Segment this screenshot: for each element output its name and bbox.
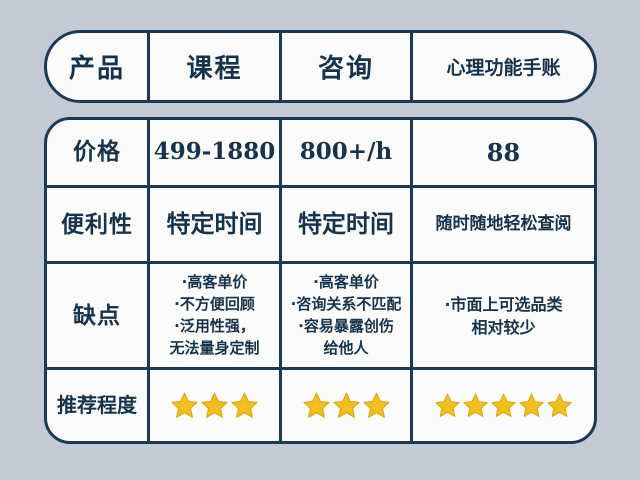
star-rating-course bbox=[170, 391, 259, 420]
convenience-consulting: 特定时间 bbox=[282, 188, 413, 262]
table-row-convenience: 便利性 特定时间 特定时间 随时随地轻松查阅 bbox=[47, 188, 594, 265]
cons-course-line-2: ·不方便回顾 bbox=[169, 294, 259, 316]
header-cell-course: 课程 bbox=[150, 33, 282, 100]
cons-consulting: ·高客单价 ·咨询关系不匹配 ·容易暴露创伤 给他人 bbox=[282, 264, 413, 367]
star-icon bbox=[230, 391, 259, 420]
cons-journal: ·市面上可选品类 相对较少 bbox=[413, 264, 594, 367]
price-journal: 88 bbox=[413, 120, 594, 185]
header-cell-journal: 心理功能手账 bbox=[413, 33, 594, 100]
row-label-rating: 推荐程度 bbox=[47, 370, 150, 441]
price-consulting: 800+/h bbox=[282, 120, 413, 185]
table-body: 价格 499-1880 800+/h 88 便利性 特定时间 特定时间 随时随地… bbox=[44, 117, 597, 444]
star-icon bbox=[462, 392, 489, 419]
row-label-cons: 缺点 bbox=[47, 264, 150, 367]
price-course: 499-1880 bbox=[150, 120, 282, 185]
table-row-rating: 推荐程度 bbox=[47, 370, 594, 441]
star-icon bbox=[362, 391, 391, 420]
cons-consulting-line-3: ·容易暴露创伤 bbox=[291, 316, 402, 338]
convenience-course: 特定时间 bbox=[150, 188, 282, 262]
rating-course bbox=[150, 370, 282, 441]
cons-course-line-1: ·高客单价 bbox=[169, 272, 259, 294]
star-icon bbox=[332, 391, 361, 420]
star-icon bbox=[546, 392, 573, 419]
star-icon bbox=[434, 392, 461, 419]
convenience-journal: 随时随地轻松查阅 bbox=[413, 188, 594, 262]
cons-course: ·高客单价 ·不方便回顾 ·泛用性强， 无法量身定制 bbox=[150, 264, 282, 367]
star-icon bbox=[518, 392, 545, 419]
cons-course-line-4: 无法量身定制 bbox=[169, 338, 259, 360]
star-icon bbox=[200, 391, 229, 420]
star-rating-consulting bbox=[302, 391, 391, 420]
cons-consulting-line-1: ·高客单价 bbox=[291, 272, 402, 294]
star-icon bbox=[490, 392, 517, 419]
cons-consulting-line-4: 给他人 bbox=[291, 338, 402, 360]
header-cell-product: 产品 bbox=[47, 33, 150, 100]
star-icon bbox=[302, 391, 331, 420]
cons-journal-line-1: ·市面上可选品类 bbox=[444, 293, 562, 316]
cons-consulting-line-2: ·咨询关系不匹配 bbox=[291, 294, 402, 316]
comparison-table: 产品 课程 咨询 心理功能手账 价格 499-1880 800+/h 88 便利… bbox=[44, 30, 597, 444]
row-label-convenience: 便利性 bbox=[47, 188, 150, 262]
row-label-price: 价格 bbox=[47, 120, 150, 185]
table-header-row: 产品 课程 咨询 心理功能手账 bbox=[44, 30, 597, 103]
rating-journal bbox=[413, 370, 594, 441]
star-icon bbox=[170, 391, 199, 420]
cons-course-line-3: ·泛用性强， bbox=[169, 316, 259, 338]
header-cell-consulting: 咨询 bbox=[282, 33, 413, 100]
table-row-price: 价格 499-1880 800+/h 88 bbox=[47, 120, 594, 188]
table-row-cons: 缺点 ·高客单价 ·不方便回顾 ·泛用性强， 无法量身定制 ·高客单价 ·咨询关… bbox=[47, 264, 594, 370]
star-rating-journal bbox=[434, 392, 573, 419]
rating-consulting bbox=[282, 370, 413, 441]
cons-journal-line-2: 相对较少 bbox=[444, 316, 562, 339]
